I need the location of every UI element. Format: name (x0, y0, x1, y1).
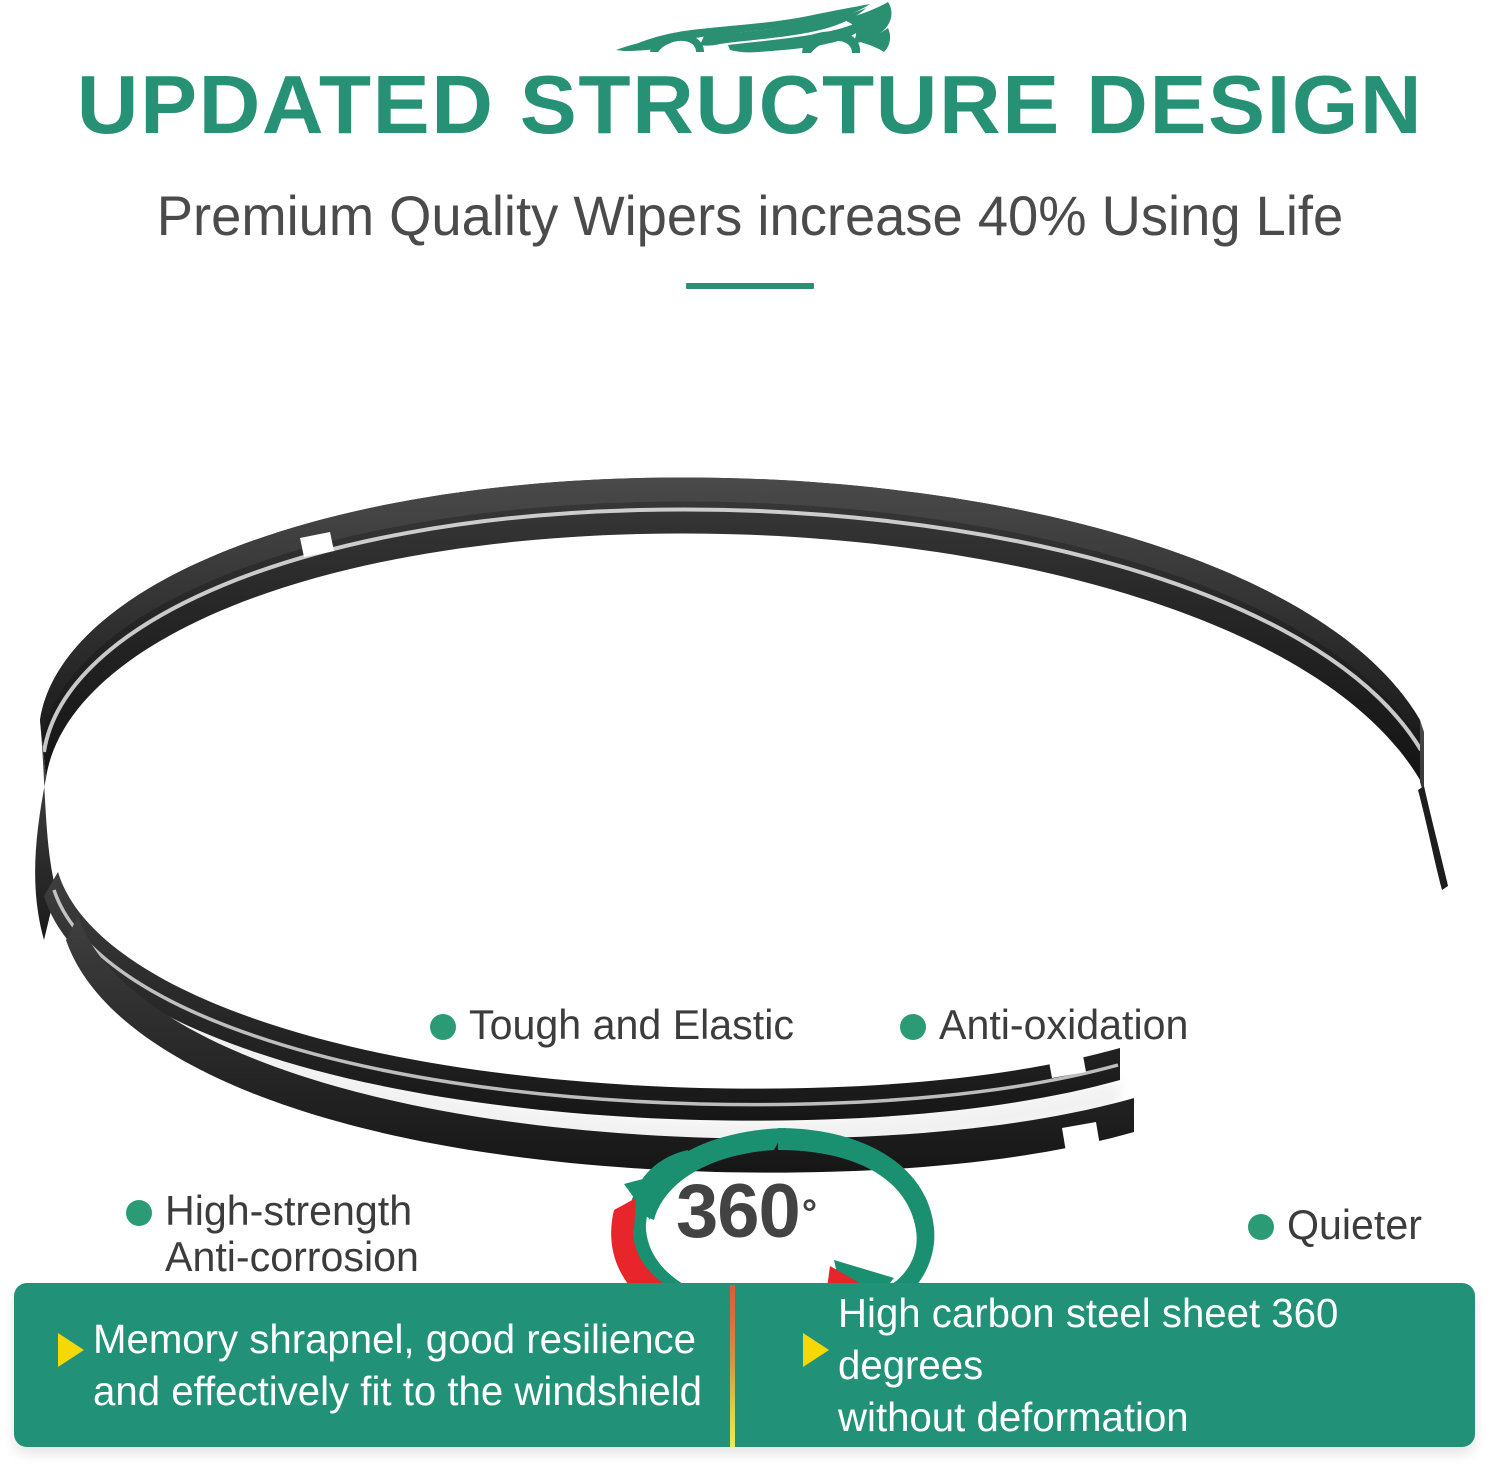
feature-label-high-strength-anti-corrosion: High-strengthAnti-corrosion (126, 1188, 424, 1280)
feature-text-line2: Anti-corrosion (165, 1234, 419, 1280)
feature-text: Quieter (1287, 1202, 1422, 1248)
car-silhouette-icon (608, 2, 908, 64)
feature-label-quieter: Quieter (1248, 1202, 1425, 1248)
feature-label-tough-and-elastic: Tough and Elastic (430, 1002, 801, 1048)
bullet-dot-icon (1248, 1214, 1274, 1240)
banner-line1: High carbon steel sheet 360 degrees (838, 1290, 1338, 1388)
page-title: UPDATED STRUCTURE DESIGN (0, 62, 1500, 148)
bullet-dot-icon (126, 1200, 152, 1226)
feature-label-anti-oxidation: Anti-oxidation (900, 1002, 1193, 1048)
badge-360-value: 360 (676, 1169, 800, 1254)
feature-text: Tough and Elastic (469, 1002, 794, 1048)
bullet-dot-icon (900, 1014, 926, 1040)
banner-line2: and effectively fit to the windshield (93, 1365, 702, 1417)
banner-item-memory-shrapnel: Memory shrapnel, good resilienceand effe… (14, 1283, 745, 1447)
wiper-steel-strip-illustration (0, 420, 1500, 1200)
feature-text: Anti-oxidation (939, 1002, 1188, 1048)
page-subtitle: Premium Quality Wipers increase 40% Usin… (23, 184, 1478, 248)
triangle-bullet-icon (58, 1333, 84, 1367)
bullet-dot-icon (430, 1014, 456, 1040)
banner-line1: Memory shrapnel, good resilience (93, 1316, 696, 1362)
triangle-bullet-icon (803, 1333, 829, 1367)
degree-symbol: ° (802, 1193, 816, 1235)
product-infographic-page: UPDATED STRUCTURE DESIGN Premium Quality… (0, 0, 1500, 1475)
product-image-stage: 360° Tough and Elastic Anti-oxidation Hi… (0, 420, 1500, 1200)
feature-text-wrapper: High-strengthAnti-corrosion (165, 1188, 419, 1280)
bottom-banner-strip: Memory shrapnel, good resilienceand effe… (14, 1283, 1475, 1447)
feature-text-line1: High-strength (165, 1187, 412, 1234)
banner-item-high-carbon-steel: High carbon steel sheet 360 degreeswitho… (745, 1283, 1476, 1447)
banner-text-wrapper: Memory shrapnel, good resilienceand effe… (93, 1313, 702, 1417)
badge-360-label: 360° (676, 1174, 814, 1250)
banner-divider-line (730, 1285, 735, 1447)
title-underline-rule (686, 283, 814, 289)
banner-line2: without deformation (838, 1391, 1463, 1443)
banner-text-wrapper: High carbon steel sheet 360 degreeswitho… (838, 1287, 1463, 1443)
